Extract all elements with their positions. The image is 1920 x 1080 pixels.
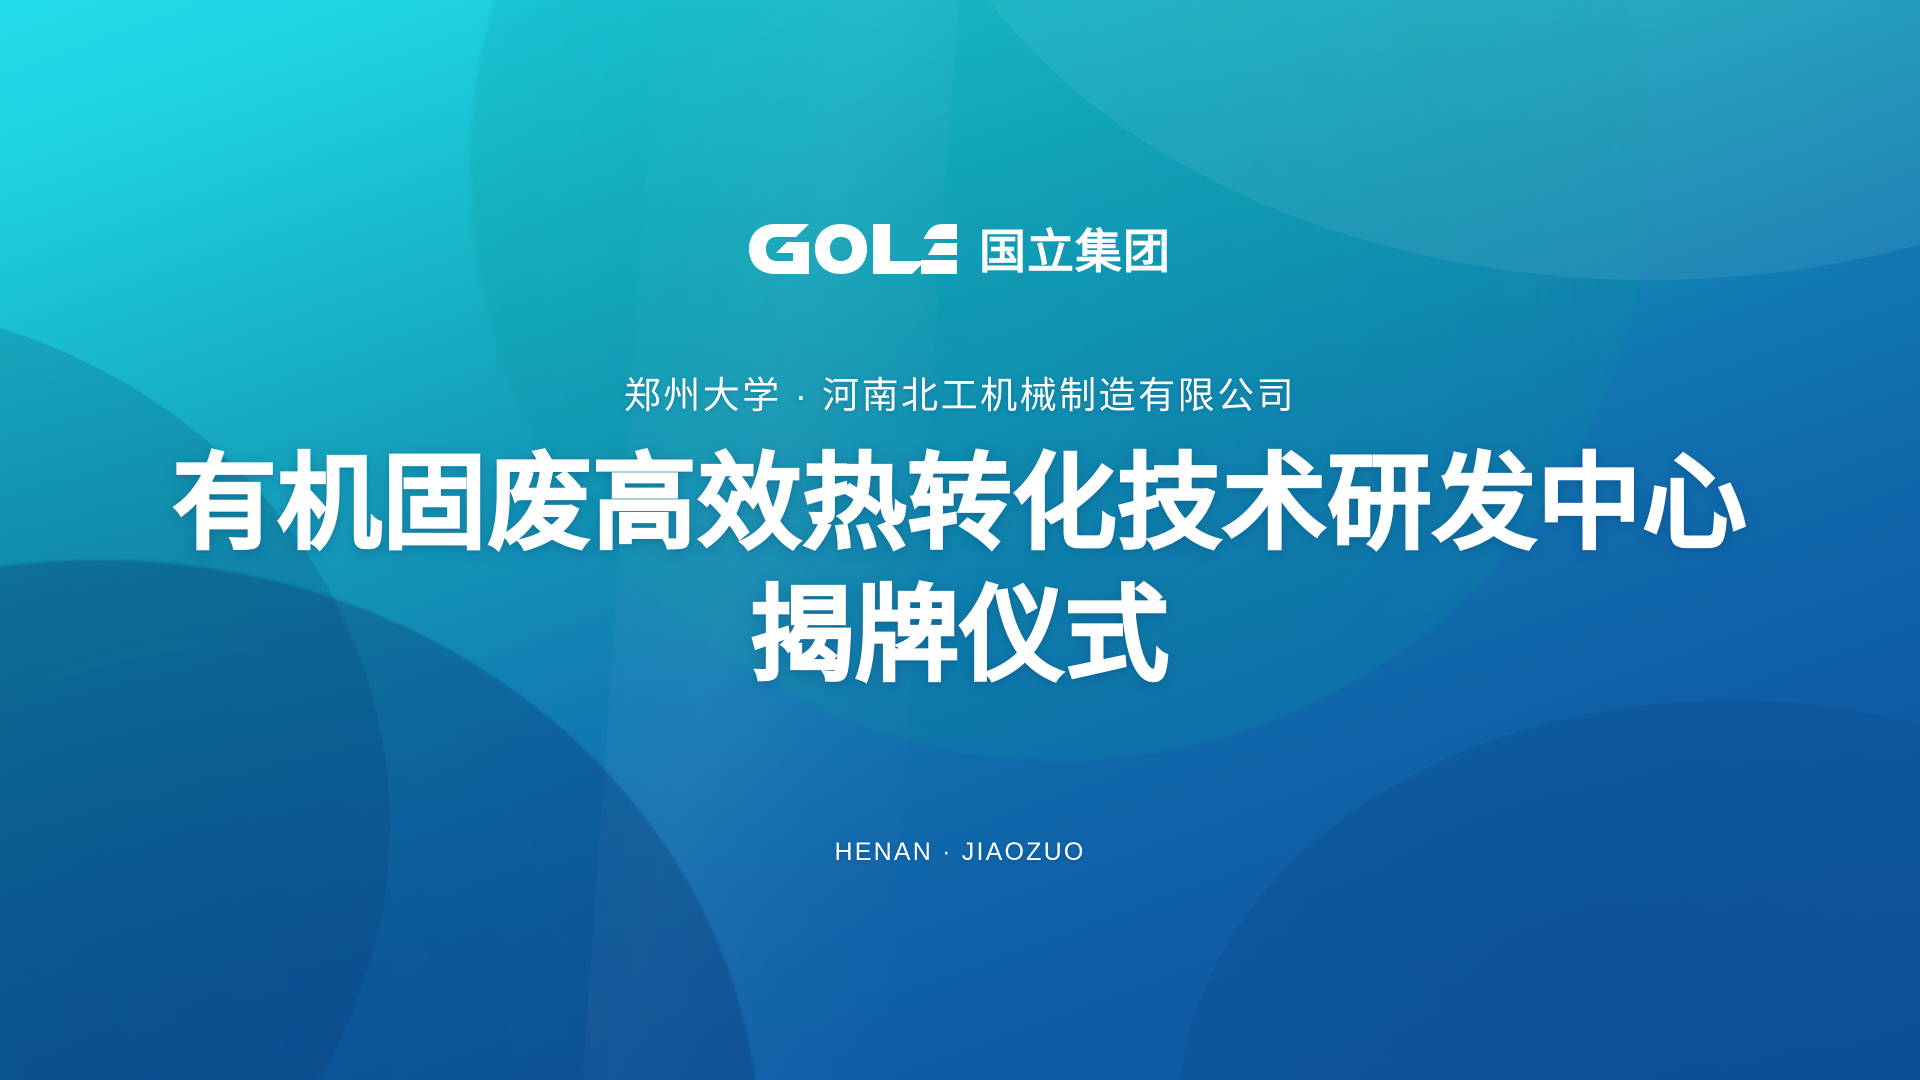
headline-line-1: 有机固废高效热转化技术研发中心: [0, 438, 1920, 570]
brand-logo-lockup: 国立集团: [749, 224, 1171, 279]
gole-wordmark-logo-icon: [749, 224, 957, 279]
title-slide: 国立集团 郑州大学 · 河南北工机械制造有限公司 有机固废高效热转化技术研发中心…: [0, 0, 1920, 1080]
location-footer: HENAN · JIAOZUO: [834, 838, 1085, 867]
event-headline: 有机固废高效热转化技术研发中心 揭牌仪式: [0, 438, 1920, 702]
slide-content: 国立集团 郑州大学 · 河南北工机械制造有限公司 有机固废高效热转化技术研发中心…: [0, 0, 1920, 1080]
headline-line-2: 揭牌仪式: [0, 570, 1920, 702]
partner-organizations-subtitle: 郑州大学 · 河南北工机械制造有限公司: [624, 374, 1296, 418]
brand-logo-chinese-name: 国立集团: [979, 228, 1171, 275]
